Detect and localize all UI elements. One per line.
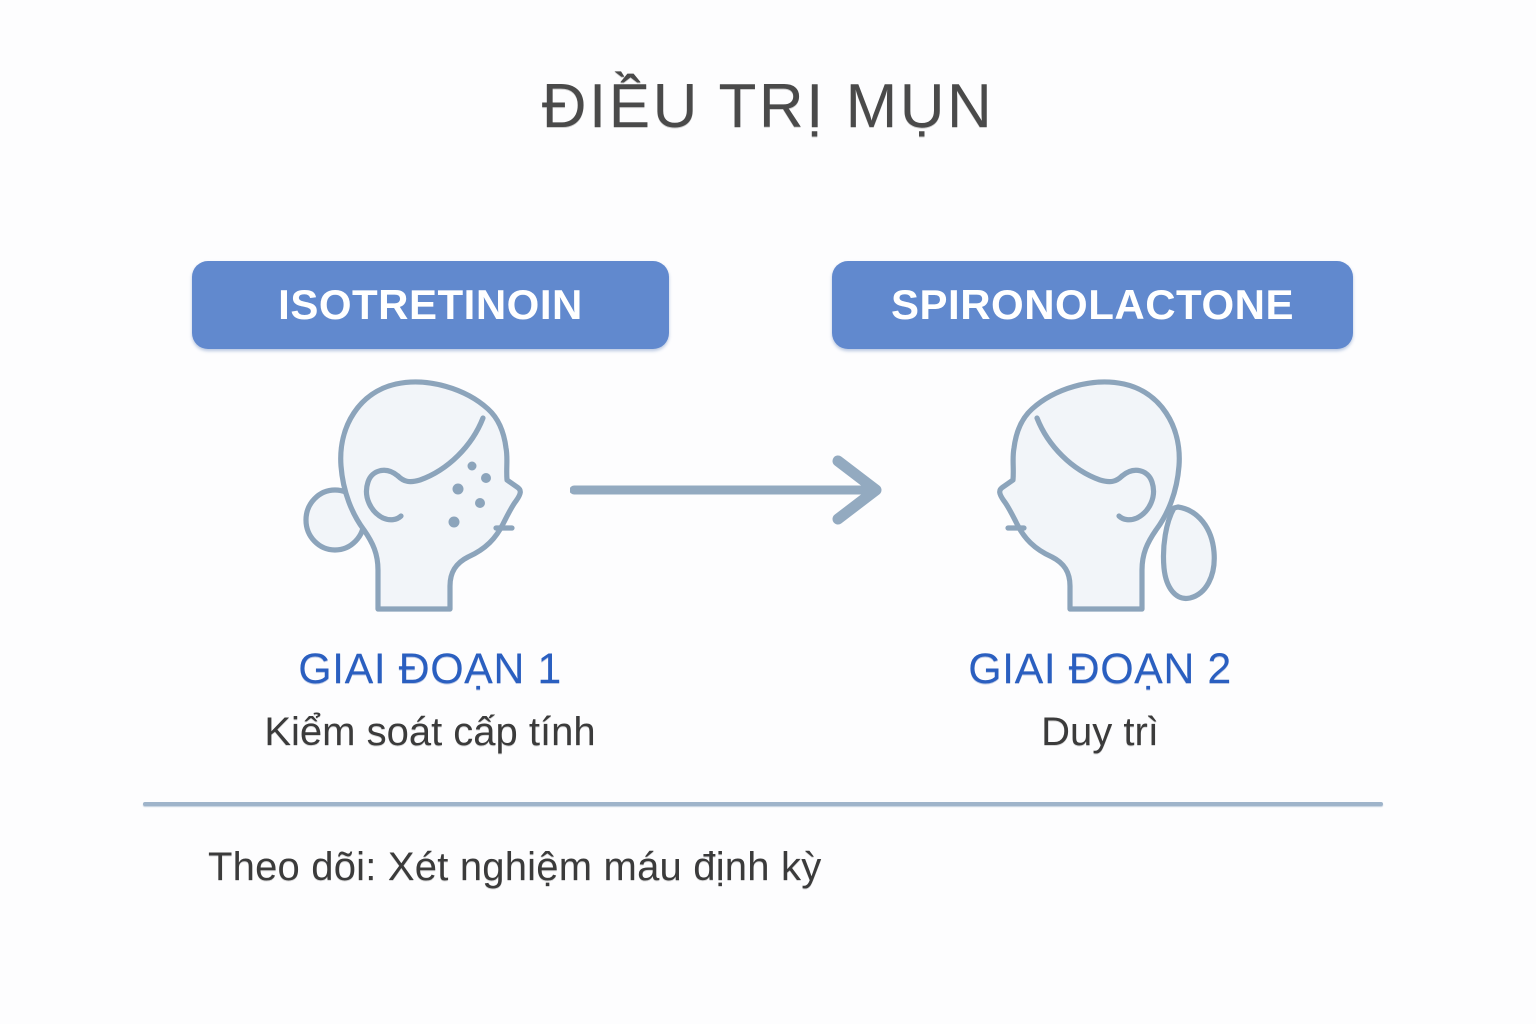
female-profile-face-with-acne-icon xyxy=(300,370,560,620)
stage-block-1: GIAI ĐOẠN 1 Kiểm soát cấp tính xyxy=(150,645,710,755)
drug-pill-isotretinoin[interactable]: ISOTRETINOIN xyxy=(192,261,669,349)
ponytail-shape xyxy=(1163,507,1214,598)
right-arrow-icon xyxy=(570,455,890,535)
infographic-canvas: ĐIỀU TRỊ MỤN ISOTRETINOIN SPIRONOLACTONE xyxy=(0,0,1536,1024)
page-title: ĐIỀU TRỊ MỤN xyxy=(0,74,1536,139)
stage-subtitle-2: Duy trì xyxy=(820,709,1380,755)
section-divider xyxy=(143,802,1383,806)
acne-dot xyxy=(453,484,464,495)
stage-subtitle-1: Kiểm soát cấp tính xyxy=(150,709,710,755)
stage-title-1: GIAI ĐOẠN 1 xyxy=(150,645,710,693)
acne-dot xyxy=(475,498,485,508)
stage-block-2: GIAI ĐOẠN 2 Duy trì xyxy=(820,645,1380,755)
acne-dot xyxy=(481,473,491,483)
monitoring-note: Theo dõi: Xét nghiệm máu định kỳ xyxy=(208,845,821,890)
acne-dot xyxy=(449,517,460,528)
female-profile-face-clear-skin-icon xyxy=(960,370,1220,620)
acne-dot xyxy=(468,462,477,471)
drug-pill-spironolactone[interactable]: SPIRONOLACTONE xyxy=(832,261,1353,349)
stage-title-2: GIAI ĐOẠN 2 xyxy=(820,645,1380,693)
